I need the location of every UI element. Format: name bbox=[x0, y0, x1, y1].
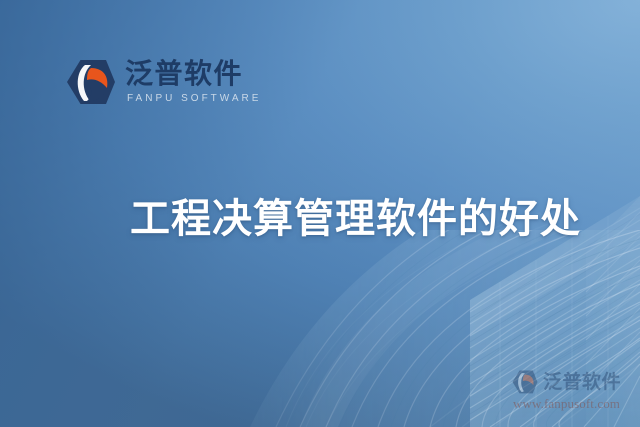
fanpu-hexagon-mark-icon bbox=[512, 370, 538, 394]
brand-wordmark: 泛普软件 FANPU SOFTWARE bbox=[125, 59, 261, 104]
brand-name-cn: 泛普软件 bbox=[125, 60, 261, 88]
brand-logo: 泛普软件 FANPU SOFTWARE bbox=[66, 59, 261, 105]
watermark-brand-name: 泛普软件 bbox=[543, 373, 621, 392]
watermark-logo-row: 泛普软件 bbox=[512, 370, 636, 394]
watermark-url: www.fanpusoft.com bbox=[513, 397, 636, 410]
watermark: 泛普软件 www.fanpusoft.com bbox=[512, 370, 636, 410]
brand-name-en: FANPU SOFTWARE bbox=[127, 94, 261, 104]
fanpu-hexagon-mark-icon bbox=[66, 59, 116, 105]
promo-banner: 泛普软件 FANPU SOFTWARE 工程决算管理软件的好处 泛普软件 www… bbox=[0, 0, 640, 427]
headline-title: 工程决算管理软件的好处 bbox=[130, 197, 581, 241]
